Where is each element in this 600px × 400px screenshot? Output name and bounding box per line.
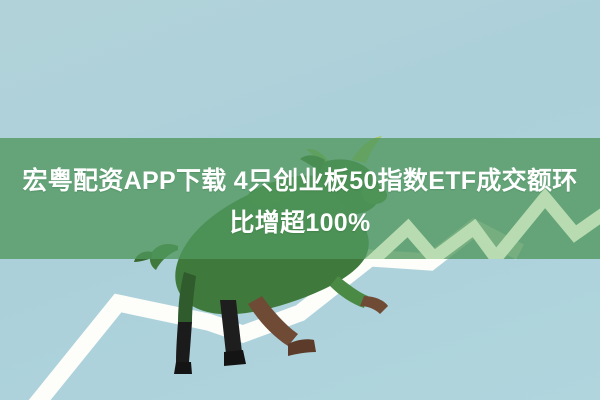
page-title: 宏粤配资APP下载 4只创业板50指数ETF成交额环 比增超100%	[0, 160, 600, 244]
headline-line-2: 比增超100%	[0, 202, 600, 244]
stock-news-banner: 宏粤配资APP下载 4只创业板50指数ETF成交额环 比增超100%	[0, 0, 600, 400]
headline-line-1: 宏粤配资APP下载 4只创业板50指数ETF成交额环	[22, 167, 577, 195]
